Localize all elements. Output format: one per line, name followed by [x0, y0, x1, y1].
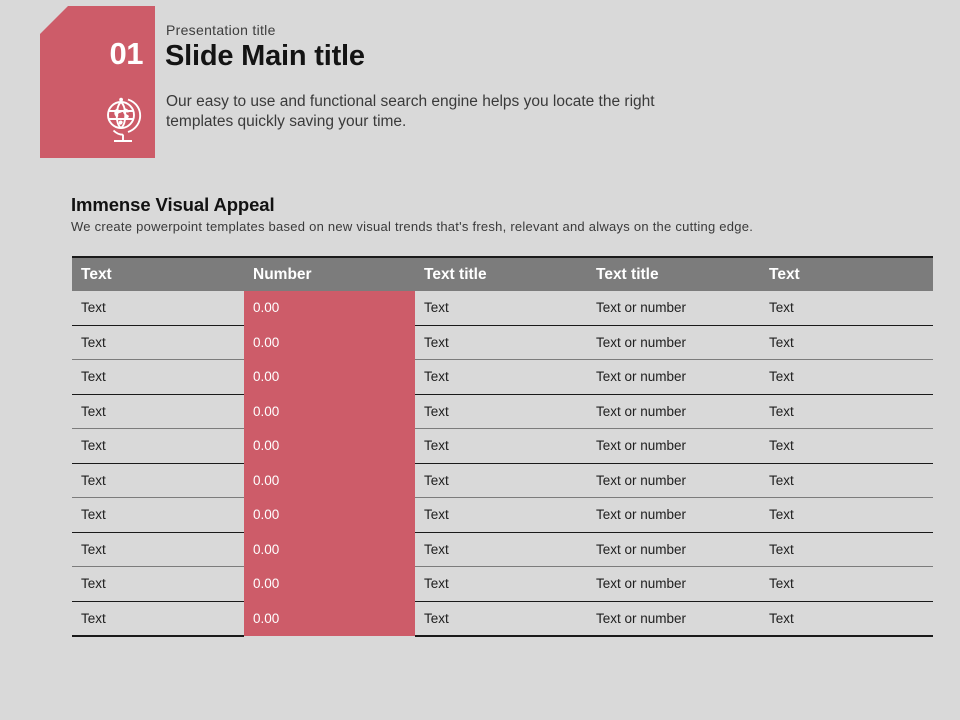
corner-fold-decoration [40, 6, 68, 34]
table-cell: Text [72, 394, 244, 429]
table-cell-number: 0.00 [244, 498, 415, 533]
table-cell: Text [415, 291, 587, 325]
table-cell: Text [760, 394, 933, 429]
table-cell: Text [72, 498, 244, 533]
table-cell: Text [415, 601, 587, 636]
table-body: Text0.00TextText or numberTextText0.00Te… [72, 291, 933, 636]
table-row: Text0.00TextText or numberText [72, 532, 933, 567]
table-cell-number: 0.00 [244, 291, 415, 325]
table-cell-number: 0.00 [244, 325, 415, 360]
column-header-2: Number [244, 257, 415, 291]
table-cell: Text or number [587, 532, 760, 567]
table-cell-number: 0.00 [244, 532, 415, 567]
table-cell: Text or number [587, 567, 760, 602]
table-cell: Text [72, 291, 244, 325]
table-head: Text Number Text title Text title Text [72, 257, 933, 291]
table-cell: Text [72, 325, 244, 360]
table-cell: Text or number [587, 325, 760, 360]
table-cell-number: 0.00 [244, 394, 415, 429]
table-cell: Text [760, 463, 933, 498]
globe-icon [98, 94, 148, 146]
column-header-3: Text title [415, 257, 587, 291]
table-row: Text0.00TextText or numberText [72, 429, 933, 464]
table-row: Text0.00TextText or numberText [72, 463, 933, 498]
column-header-5: Text [760, 257, 933, 291]
table-cell: Text [760, 360, 933, 395]
table-cell: Text [415, 429, 587, 464]
table-cell-number: 0.00 [244, 429, 415, 464]
column-header-1: Text [72, 257, 244, 291]
table-cell: Text [415, 360, 587, 395]
table-cell: Text [415, 567, 587, 602]
table-cell: Text [760, 601, 933, 636]
slide-number: 01 [110, 38, 143, 69]
table-cell: Text [415, 498, 587, 533]
slide-accent-block: 01 [40, 6, 155, 158]
table-cell: Text or number [587, 291, 760, 325]
table-header-row: Text Number Text title Text title Text [72, 257, 933, 291]
table-row: Text0.00TextText or numberText [72, 291, 933, 325]
column-header-4: Text title [587, 257, 760, 291]
table-cell: Text [72, 532, 244, 567]
table-cell: Text or number [587, 601, 760, 636]
data-table: Text Number Text title Text title Text T… [72, 256, 933, 637]
section-subheading: We create powerpoint templates based on … [71, 219, 753, 234]
table-cell: Text or number [587, 394, 760, 429]
table-row: Text0.00TextText or numberText [72, 498, 933, 533]
table-row: Text0.00TextText or numberText [72, 601, 933, 636]
table-cell: Text [760, 532, 933, 567]
table-cell: Text [72, 429, 244, 464]
page-title: Slide Main title [165, 41, 365, 73]
table-cell: Text [760, 291, 933, 325]
table-row: Text0.00TextText or numberText [72, 360, 933, 395]
slide-description: Our easy to use and functional search en… [166, 92, 726, 133]
table-cell: Text [760, 567, 933, 602]
table-cell: Text [760, 429, 933, 464]
table-cell: Text [72, 360, 244, 395]
table-cell: Text [415, 325, 587, 360]
table-cell: Text [760, 498, 933, 533]
table-cell: Text or number [587, 360, 760, 395]
section-heading: Immense Visual Appeal [71, 194, 275, 216]
table-cell: Text [72, 463, 244, 498]
table-cell-number: 0.00 [244, 567, 415, 602]
table-cell-number: 0.00 [244, 463, 415, 498]
table-row: Text0.00TextText or numberText [72, 325, 933, 360]
table-cell: Text [72, 567, 244, 602]
table-cell: Text [415, 394, 587, 429]
table-row: Text0.00TextText or numberText [72, 394, 933, 429]
table-cell: Text [72, 601, 244, 636]
table-cell-number: 0.00 [244, 360, 415, 395]
presentation-title: Presentation title [166, 22, 276, 38]
table-cell: Text or number [587, 498, 760, 533]
table-cell: Text [760, 325, 933, 360]
table-cell: Text [415, 463, 587, 498]
table-cell: Text or number [587, 463, 760, 498]
table-cell-number: 0.00 [244, 601, 415, 636]
table-row: Text0.00TextText or numberText [72, 567, 933, 602]
table-cell: Text or number [587, 429, 760, 464]
data-table-container: Text Number Text title Text title Text T… [72, 256, 888, 637]
table-cell: Text [415, 532, 587, 567]
